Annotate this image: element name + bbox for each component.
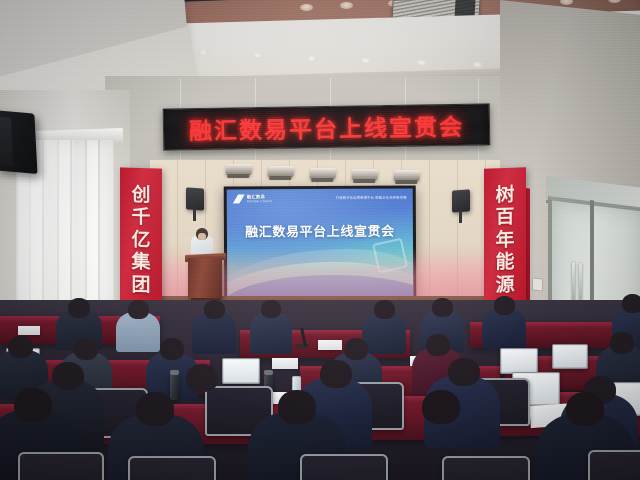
chair-foreground[interactable]: [300, 454, 388, 480]
banner-right-char: 能: [495, 251, 514, 274]
attendee-head: [52, 362, 84, 390]
document-paper: [272, 358, 298, 369]
laptop[interactable]: [500, 348, 538, 374]
stage-light: [393, 170, 420, 181]
document-paper: [18, 326, 40, 335]
attendee-head-foreground: [136, 392, 174, 426]
stage-speaker-left: [186, 187, 204, 210]
thermos-cap: [264, 370, 273, 375]
attendee-head: [622, 294, 640, 313]
attendee-head: [8, 336, 33, 358]
stage-light: [267, 166, 294, 177]
slide-logo: 融汇数易 RONGHUI SHUYI: [233, 194, 273, 203]
soffit-downlight: [360, 58, 371, 64]
attendee-head: [320, 360, 352, 388]
attendee-head: [374, 300, 395, 319]
attendee-head: [74, 338, 98, 360]
laptop-screen: [224, 360, 258, 382]
thermos-cap: [170, 370, 179, 375]
attendee-head-foreground: [566, 392, 604, 426]
soffit-downlight: [472, 62, 483, 68]
slide-title: 融汇数易平台上线宣贯会: [227, 221, 413, 241]
attendee-head: [204, 300, 225, 319]
led-display-banner: 融汇数易平台上线宣贯会: [163, 103, 491, 150]
wall-speaker-grille: [0, 116, 13, 166]
slide-top-right-text: 打造数字化运营管理平台 赋能企业高质量发展: [336, 195, 407, 200]
laptop-screen: [502, 350, 536, 372]
attendee-head: [128, 300, 149, 319]
chair-foreground[interactable]: [442, 456, 530, 480]
presenter-face: [198, 233, 206, 240]
chair-foreground[interactable]: [128, 456, 216, 480]
stage-speaker-right: [452, 189, 470, 212]
attendee-head: [432, 298, 453, 317]
slide-logo-subtext: RONGHUI SHUYI: [247, 200, 272, 204]
banner-left-char: 集: [131, 251, 150, 274]
banner-left-char: 团: [131, 273, 150, 296]
banner-right-char: 年: [495, 228, 514, 251]
ceiling-downlight: [300, 4, 313, 11]
speaker-mount: [193, 209, 196, 221]
attendee-head: [186, 364, 218, 392]
attendee-head-foreground: [422, 390, 460, 424]
attendee-head-foreground: [14, 388, 52, 422]
conference-room-photo: 融汇数易平台上线宣贯会 融汇数易 RONGHUI SHUYI 打造数字化运营管理…: [0, 0, 640, 480]
stage-light: [309, 168, 336, 179]
speaker-podium: [188, 258, 222, 300]
banner-right-char: 源: [495, 273, 514, 296]
logo-mark-icon: [233, 195, 245, 204]
laptop[interactable]: [552, 344, 588, 369]
document-paper: [318, 340, 342, 350]
attendee-head: [494, 296, 515, 315]
laptop[interactable]: [222, 358, 260, 384]
banner-left-char: 亿: [131, 229, 150, 252]
soffit-downlight: [198, 50, 209, 56]
wall-speaker: [0, 110, 38, 174]
chair-foreground[interactable]: [588, 450, 640, 480]
attendee-head-foreground: [278, 390, 316, 424]
attendee-head: [160, 338, 184, 360]
attendee-head: [261, 300, 281, 318]
led-banner-text: 融汇数易平台上线宣贯会: [189, 108, 465, 146]
attendee-head: [344, 338, 368, 360]
soffit-downlight: [416, 60, 427, 66]
speaker-mount: [459, 211, 462, 223]
banner-left-char: 千: [131, 206, 150, 229]
attendee-head: [68, 298, 90, 318]
chair-foreground[interactable]: [18, 452, 104, 480]
laptop-screen: [554, 346, 586, 367]
stage-light: [225, 164, 252, 175]
attendee-head: [426, 334, 450, 356]
microphone-base: [296, 344, 309, 348]
soffit-downlight: [252, 53, 263, 59]
wall-socket: [532, 277, 543, 291]
banner-right-char: 树: [495, 184, 514, 207]
attendee-head: [448, 358, 480, 386]
ceiling-downlight: [340, 2, 353, 9]
soffit-downlight: [306, 56, 317, 62]
stage-light: [351, 169, 378, 180]
banner-left-char: 创: [131, 184, 150, 207]
attendee-head: [610, 332, 634, 354]
attendee-body: [250, 312, 292, 354]
banner-right-char: 百: [495, 206, 514, 229]
